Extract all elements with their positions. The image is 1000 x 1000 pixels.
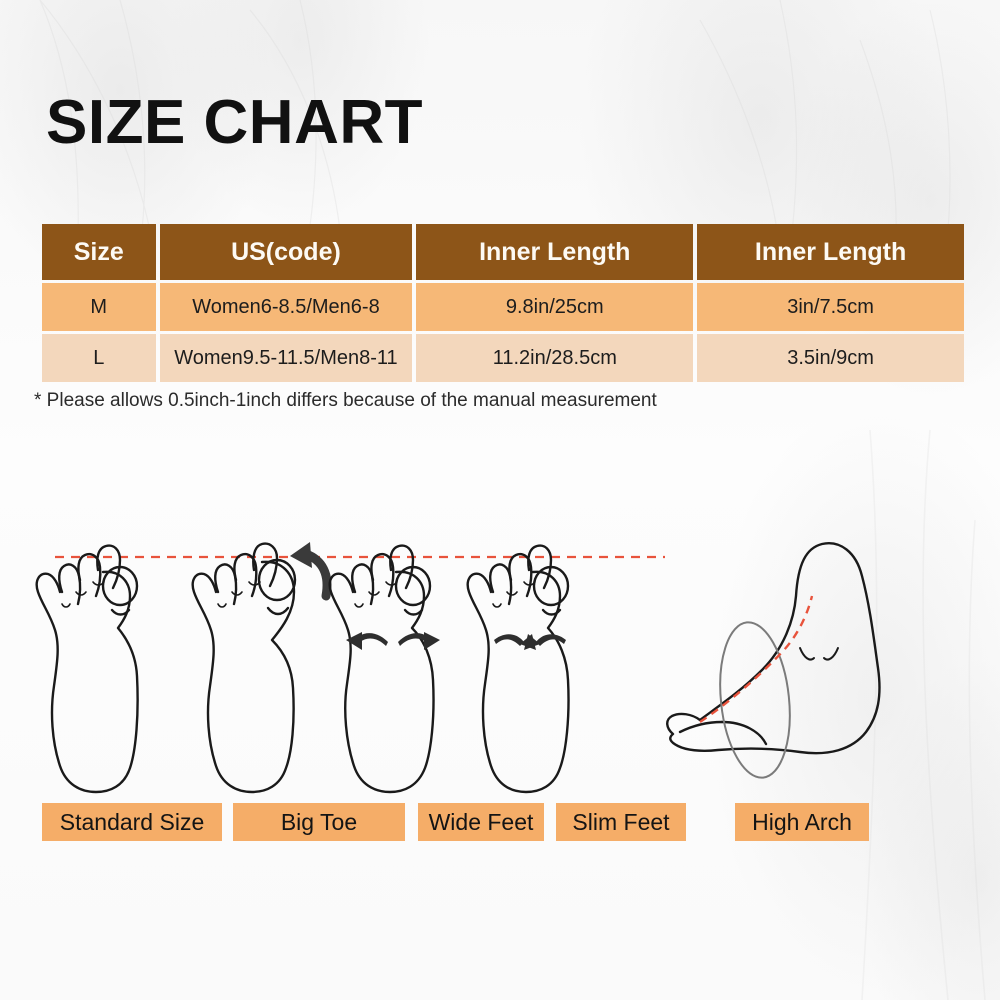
foot-big-toe-icon	[193, 544, 295, 792]
header-size: Size	[42, 224, 156, 280]
header-inner-length: Inner Length	[416, 224, 693, 280]
table-header-row: Size US(code) Inner Length Inner Length	[42, 224, 964, 280]
cell-length-l: 11.2in/28.5cm	[416, 334, 693, 382]
arch-guide-line-icon	[700, 596, 812, 722]
page-title: SIZE CHART	[46, 92, 423, 154]
cell-length-m: 9.8in/25cm	[416, 283, 693, 331]
big-toenail-icon	[534, 567, 568, 605]
foot-type-illustrations	[0, 500, 1000, 820]
size-chart-page: SIZE CHART Size US(code) Inner Length In…	[0, 0, 1000, 1000]
table-row: L Women9.5-11.5/Men8-11 11.2in/28.5cm 3.…	[42, 334, 964, 382]
big-toenail-icon	[396, 567, 430, 605]
foot-slim-feet-icon	[468, 546, 569, 792]
cell-us-m: Women6-8.5/Men6-8	[160, 283, 413, 331]
header-us-code: US(code)	[160, 224, 413, 280]
cell-size-l: L	[42, 334, 156, 382]
cell-width-m: 3in/7.5cm	[697, 283, 964, 331]
big-toenail-icon	[103, 567, 137, 605]
foot-type-label-wide-feet: Wide Feet	[418, 803, 544, 841]
size-table: Size US(code) Inner Length Inner Length …	[42, 224, 964, 382]
wide-feet-arrows-icon	[346, 632, 440, 650]
cell-us-l: Women9.5-11.5/Men8-11	[160, 334, 413, 382]
measurement-note: * Please allows 0.5inch-1inch differs be…	[34, 390, 657, 412]
foot-type-label-slim-feet: Slim Feet	[556, 803, 686, 841]
cell-size-m: M	[42, 283, 156, 331]
foot-type-label-big-toe: Big Toe	[233, 803, 405, 841]
big-toe-arrow-icon	[290, 542, 327, 596]
cell-width-l: 3.5in/9cm	[697, 334, 964, 382]
foot-wide-feet-icon	[330, 546, 434, 792]
foot-type-label-high-arch: High Arch	[735, 803, 869, 841]
foot-standard-size-icon	[37, 546, 138, 792]
table-row: M Women6-8.5/Men6-8 9.8in/25cm 3in/7.5cm	[42, 283, 964, 331]
header-inner-width: Inner Length	[697, 224, 964, 280]
foot-high-arch-icon	[667, 543, 879, 753]
foot-type-label-standard-size: Standard Size	[42, 803, 222, 841]
slim-feet-arrows-icon	[494, 634, 566, 650]
